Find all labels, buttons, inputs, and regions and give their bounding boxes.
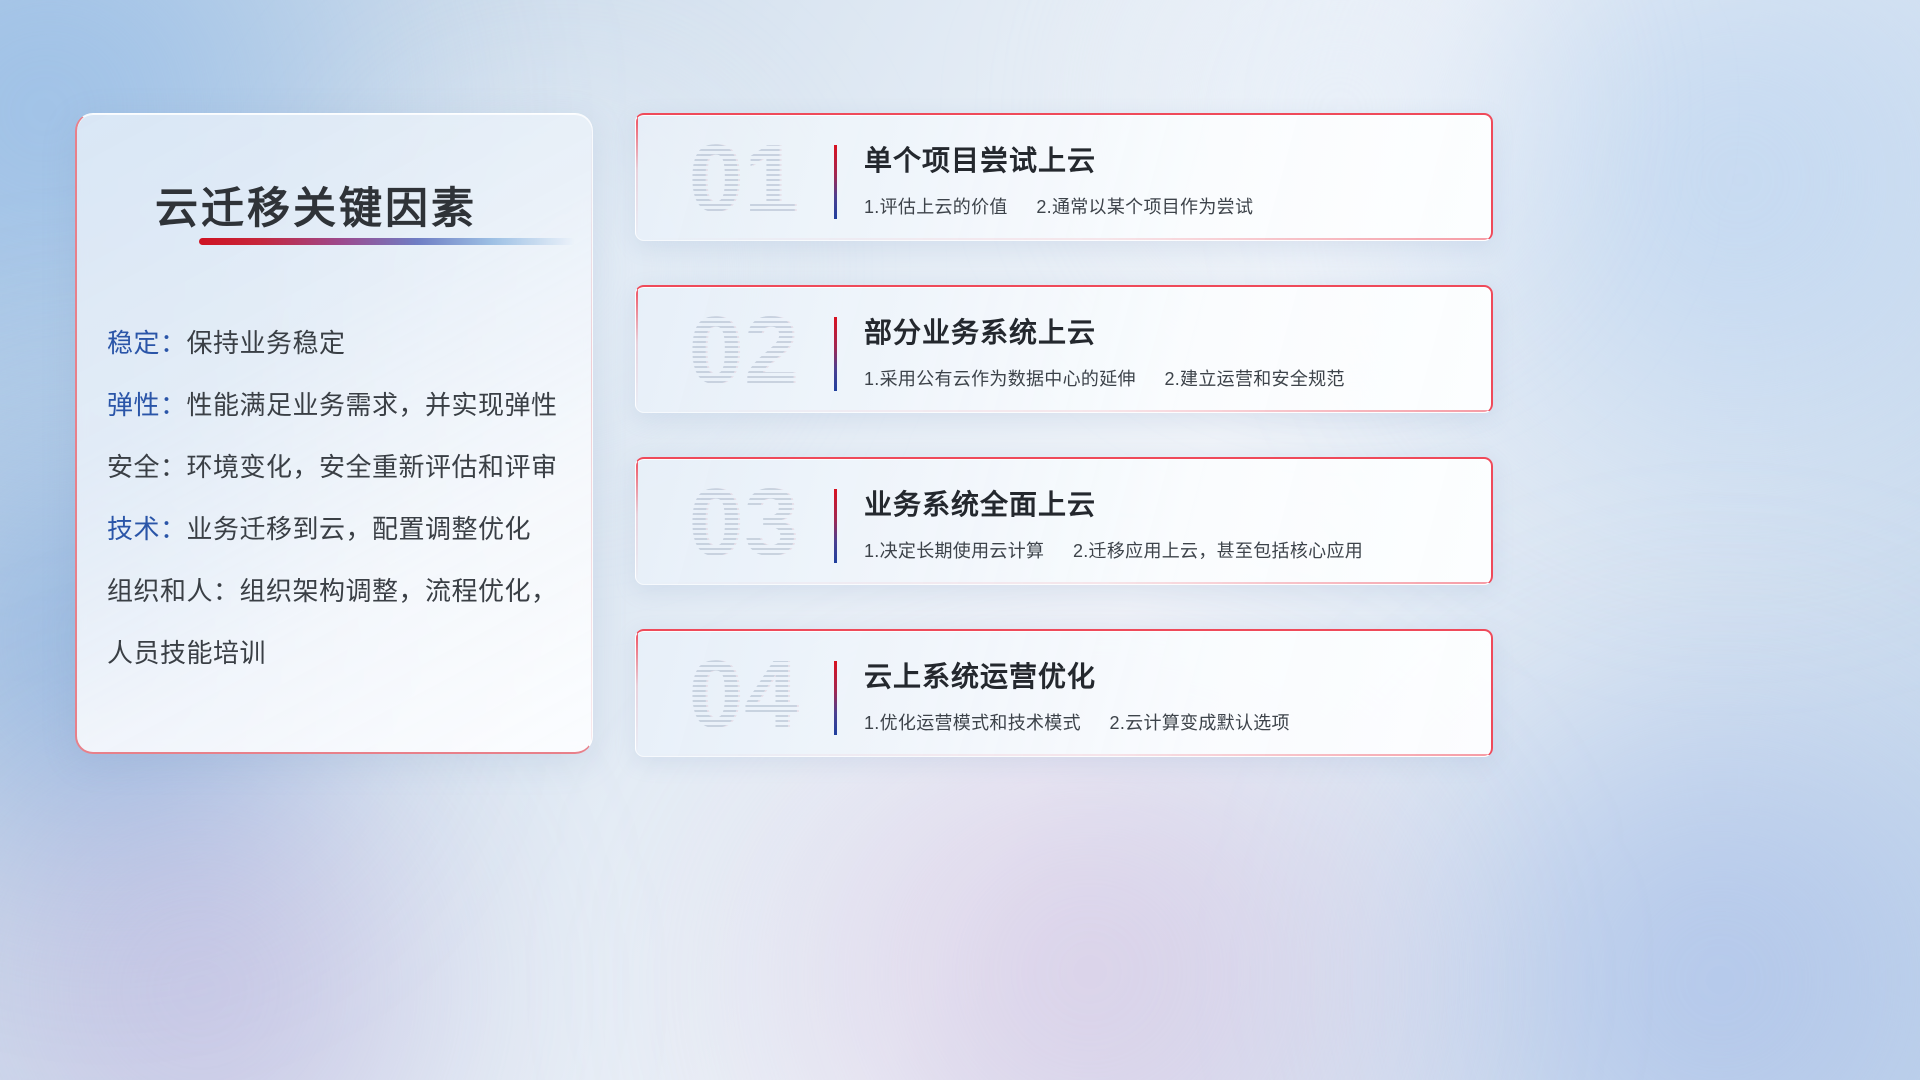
key-factor-text: 组织架构调整，流程优化， bbox=[240, 576, 558, 606]
title-underline-gradient bbox=[199, 238, 575, 245]
stage-point: 1.采用公有云作为数据中心的延伸 bbox=[864, 369, 1136, 389]
stage-point: 1.评估上云的价值 bbox=[864, 197, 1008, 217]
stage-number-watermark: 04 bbox=[664, 635, 824, 755]
stage-accent-bar bbox=[834, 317, 837, 391]
stage-points: 1.采用公有云作为数据中心的延伸 2.建立运营和安全规范 bbox=[864, 365, 1345, 391]
key-factor-label: 安全： bbox=[107, 452, 187, 482]
key-factor-item: 稳定：保持业务稳定 bbox=[107, 312, 568, 374]
key-factor-item-continued: 人员技能培训 bbox=[107, 622, 568, 684]
key-factor-item: 弹性：性能满足业务需求，并实现弹性 bbox=[107, 374, 568, 436]
key-factor-label: 技术： bbox=[107, 514, 187, 544]
stage-accent-bar bbox=[834, 489, 837, 563]
stage-point: 2.通常以某个项目作为尝试 bbox=[1036, 197, 1253, 217]
stage-accent-bar bbox=[834, 145, 837, 219]
stage-point: 1.决定长期使用云计算 bbox=[864, 541, 1044, 561]
stage-point: 1.优化运营模式和技术模式 bbox=[864, 713, 1081, 733]
slide-content: 云迁移关键因素 稳定：保持业务稳定 弹性：性能满足业务需求，并实现弹性 安全：环… bbox=[0, 0, 1920, 1080]
panel-title: 云迁移关键因素 bbox=[155, 174, 477, 236]
key-factors-panel: 云迁移关键因素 稳定：保持业务稳定 弹性：性能满足业务需求，并实现弹性 安全：环… bbox=[75, 113, 593, 754]
key-factor-text: 保持业务稳定 bbox=[187, 328, 346, 358]
key-factors-list: 稳定：保持业务稳定 弹性：性能满足业务需求，并实现弹性 安全：环境变化，安全重新… bbox=[107, 312, 568, 684]
stage-number-watermark: 02 bbox=[664, 291, 824, 411]
stage-card[interactable]: 02 部分业务系统上云 1.采用公有云作为数据中心的延伸 2.建立运营和安全规范 bbox=[635, 285, 1493, 413]
key-factor-label: 组织和人： bbox=[107, 576, 240, 606]
key-factor-text: 环境变化，安全重新评估和评审 bbox=[187, 452, 558, 482]
stage-number-watermark: 01 bbox=[664, 119, 824, 239]
stage-title: 单个项目尝试上云 bbox=[864, 139, 1096, 179]
stage-point: 2.建立运营和安全规范 bbox=[1164, 369, 1344, 389]
stage-title: 业务系统全面上云 bbox=[864, 483, 1096, 523]
stage-card[interactable]: 04 云上系统运营优化 1.优化运营模式和技术模式 2.云计算变成默认选项 bbox=[635, 629, 1493, 757]
key-factor-item: 技术：业务迁移到云，配置调整优化 bbox=[107, 498, 568, 560]
stage-title: 云上系统运营优化 bbox=[864, 655, 1096, 695]
stage-point: 2.迁移应用上云，甚至包括核心应用 bbox=[1073, 541, 1363, 561]
stage-points: 1.优化运营模式和技术模式 2.云计算变成默认选项 bbox=[864, 709, 1290, 735]
stage-point: 2.云计算变成默认选项 bbox=[1110, 713, 1290, 733]
key-factor-item: 安全：环境变化，安全重新评估和评审 bbox=[107, 436, 568, 498]
stage-card[interactable]: 01 单个项目尝试上云 1.评估上云的价值 2.通常以某个项目作为尝试 bbox=[635, 113, 1493, 241]
stage-card[interactable]: 03 业务系统全面上云 1.决定长期使用云计算 2.迁移应用上云，甚至包括核心应… bbox=[635, 457, 1493, 585]
stage-points: 1.决定长期使用云计算 2.迁移应用上云，甚至包括核心应用 bbox=[864, 537, 1363, 563]
stage-title: 部分业务系统上云 bbox=[864, 311, 1096, 351]
key-factor-label: 弹性： bbox=[107, 390, 187, 420]
stage-points: 1.评估上云的价值 2.通常以某个项目作为尝试 bbox=[864, 193, 1253, 219]
key-factor-label: 稳定： bbox=[107, 328, 187, 358]
stage-accent-bar bbox=[834, 661, 837, 735]
key-factor-text: 业务迁移到云，配置调整优化 bbox=[187, 514, 532, 544]
key-factor-item: 组织和人：组织架构调整，流程优化， bbox=[107, 560, 568, 622]
key-factor-text: 性能满足业务需求，并实现弹性 bbox=[187, 390, 558, 420]
key-factor-text: 人员技能培训 bbox=[107, 638, 266, 668]
stage-number-watermark: 03 bbox=[664, 463, 824, 583]
